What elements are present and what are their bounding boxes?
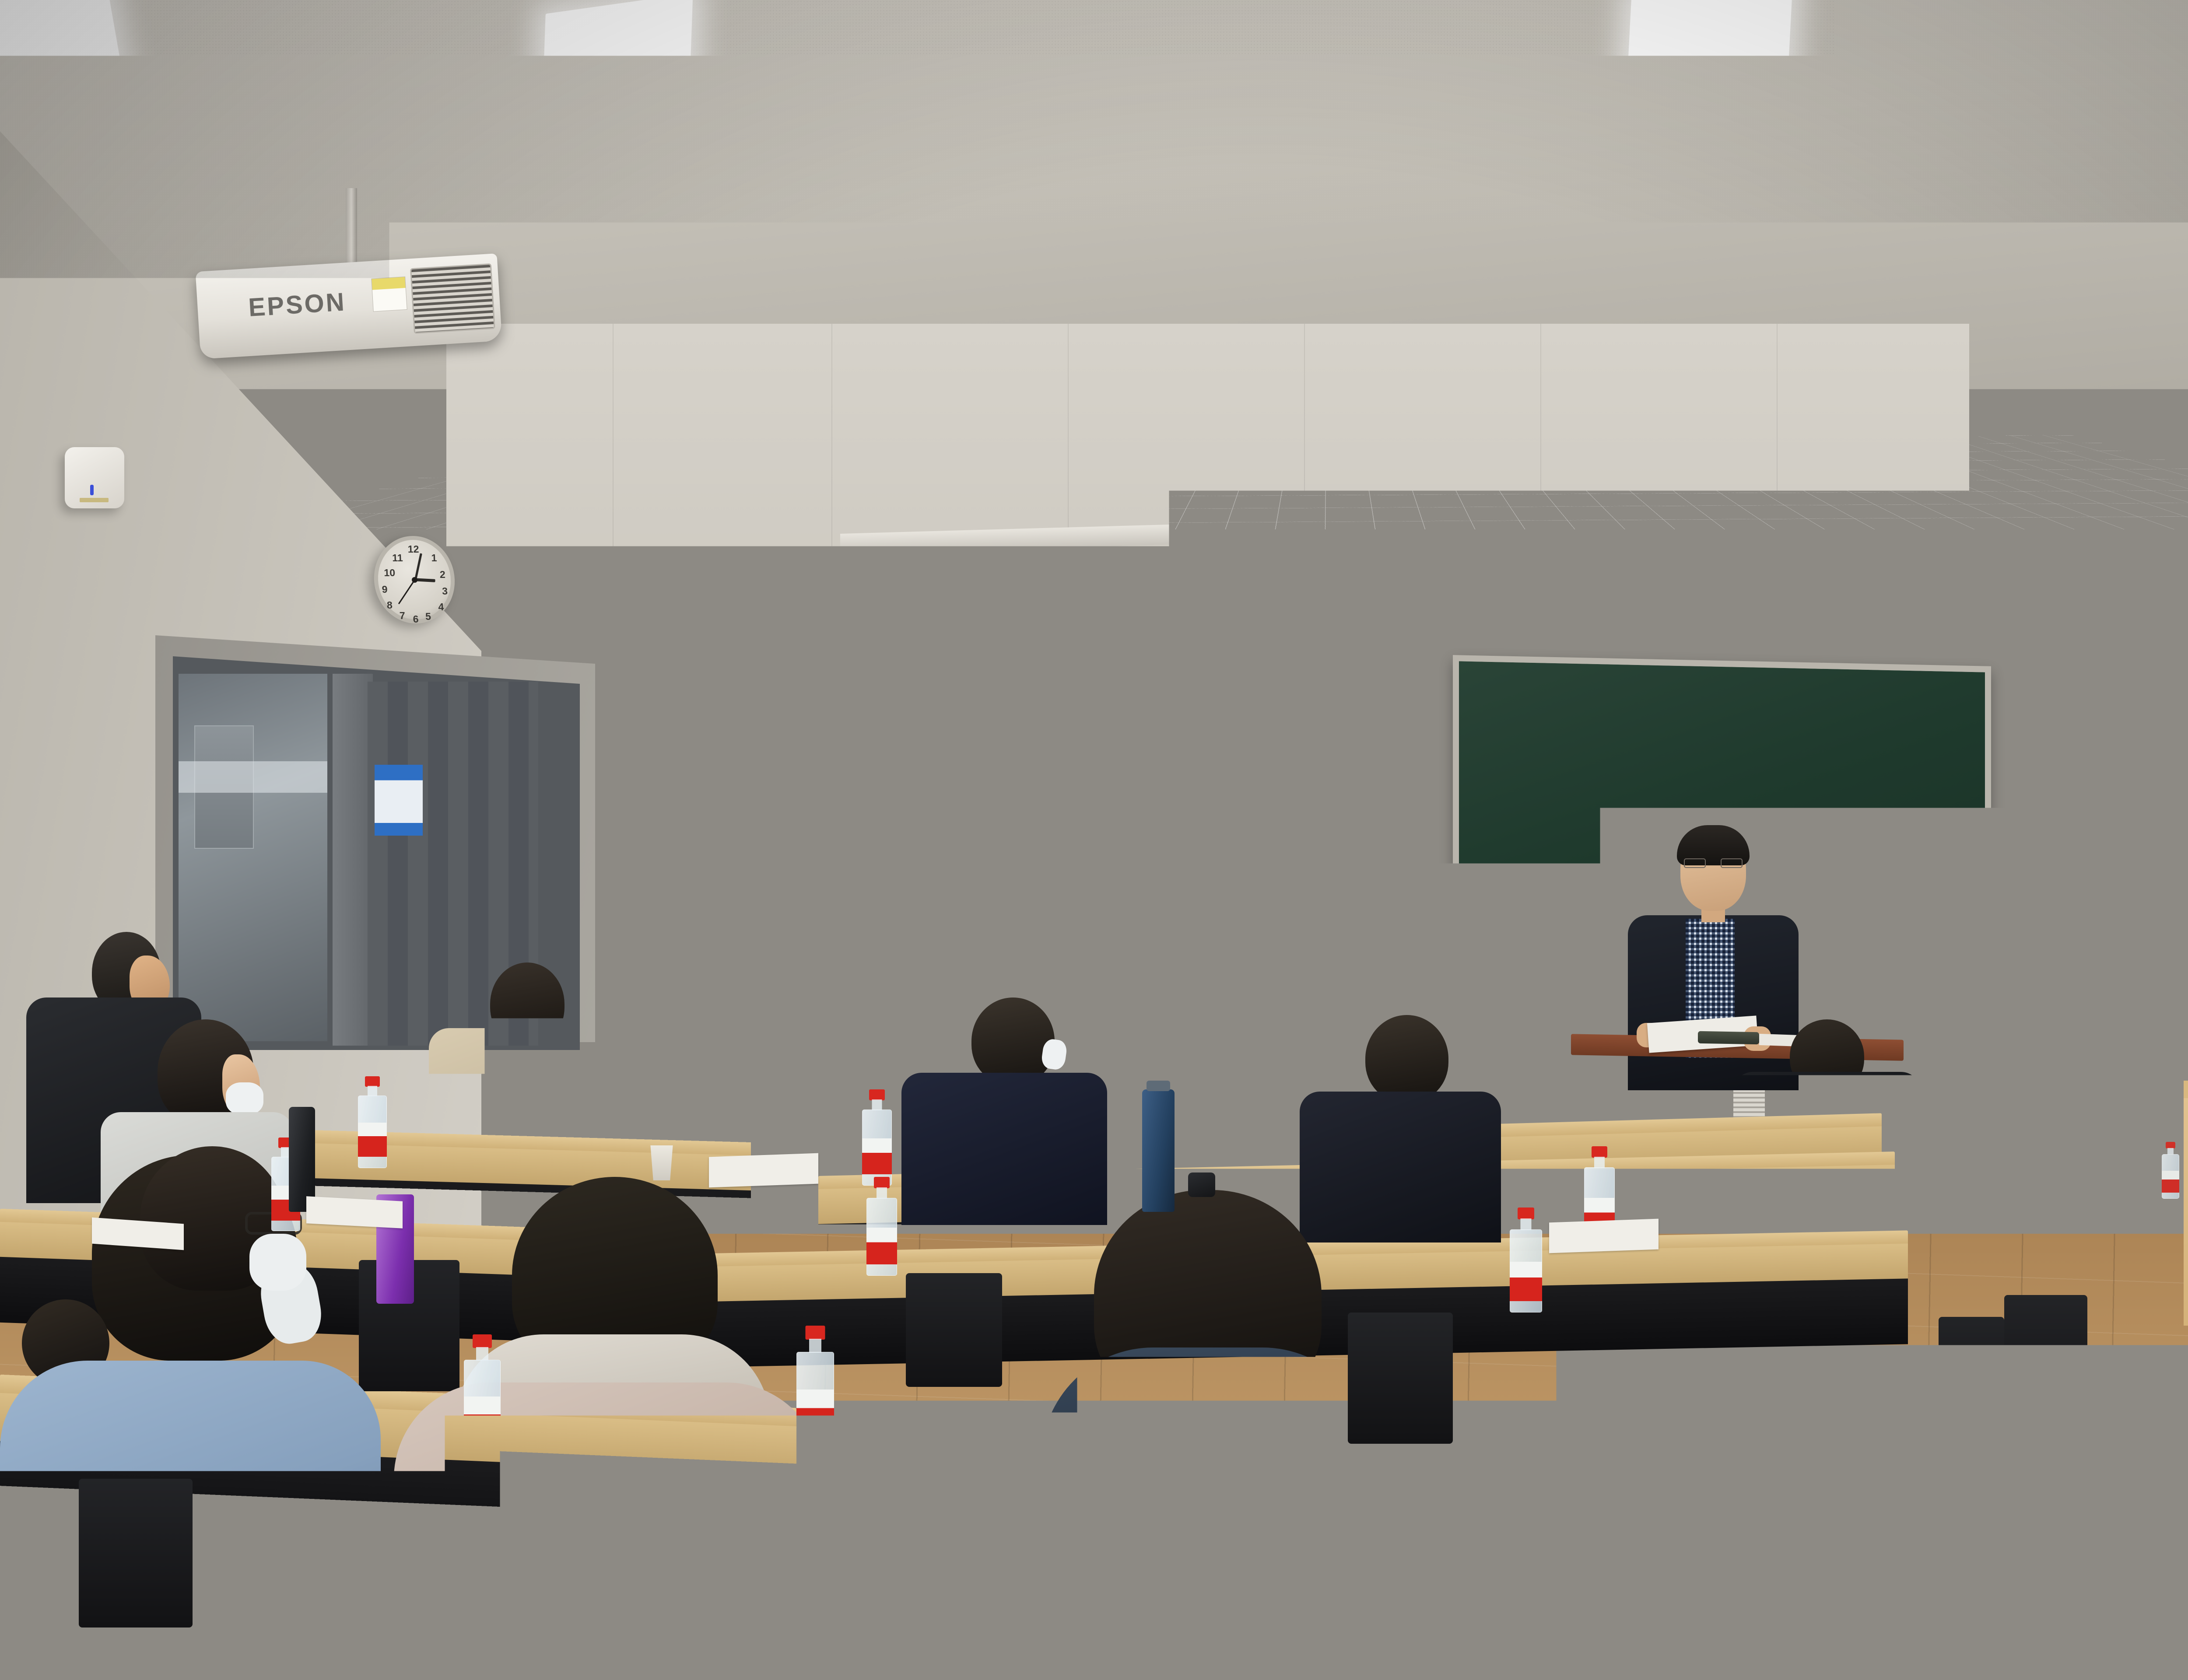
- projector-brand-label: EPSON: [248, 287, 347, 322]
- clock-date: 2021/12/15: [1388, 973, 1431, 983]
- ime-mode-label[interactable]: 中: [1375, 921, 1380, 930]
- clock-minute-hand: [414, 553, 422, 580]
- cup-lid: [1188, 1172, 1215, 1197]
- torso: [394, 1382, 823, 1680]
- projector-vent: [410, 263, 495, 334]
- hair: [971, 997, 1055, 1085]
- notebook-page: [1549, 1219, 1659, 1253]
- air-conditioner: [2118, 779, 2188, 1164]
- attendee-navy-sweater: [1641, 1199, 2105, 1680]
- tray-app-icon[interactable]: [1435, 964, 1450, 983]
- wall-right: [1960, 206, 2188, 1343]
- projection-screen-surface: 腾讯会议 正在讲话: 月下种红豆 月下种红豆: [860, 575, 1456, 1008]
- water-bottle: [2162, 1142, 2179, 1199]
- ap-label: [80, 498, 109, 502]
- wifi-router: [2135, 754, 2188, 772]
- participant-name-tag: 月下种红豆: [1312, 679, 1353, 689]
- meeting-status-bar: 腾讯会议: [1130, 603, 1187, 616]
- ime-emoji-icon[interactable]: [1392, 922, 1398, 928]
- side-counter: [2184, 1081, 2188, 1326]
- water-bottle: [1549, 1452, 1589, 1584]
- notebook-page: [1597, 1306, 1729, 1347]
- ime-tools-icon[interactable]: [1400, 922, 1406, 928]
- projection-screen-frame: 腾讯会议 正在讲话: 月下种红豆 月下种红豆: [851, 567, 1466, 1034]
- clock-time: 14:34: [1399, 966, 1420, 975]
- ime-menu-icon[interactable]: [1409, 921, 1415, 927]
- system-tray[interactable]: 14:34 2021/12/15: [1354, 964, 1456, 986]
- tray-icon[interactable]: [1354, 973, 1361, 980]
- clock-second-hand: [398, 579, 415, 604]
- participant-name-label: 月下种红豆: [1322, 679, 1353, 688]
- recording-dot-icon: [1141, 608, 1145, 612]
- camera-lens-icon: [1462, 635, 1476, 649]
- ceiling-light-panel: [541, 0, 693, 143]
- ceiling-light-panel: [1625, 0, 1793, 126]
- university-logo: ❁ 西北农林科技大学 NORTHWEST A&F UNIVERSITY: [899, 649, 1126, 701]
- ac-seam: [2121, 857, 2188, 858]
- screen-brand-label: ThreeStars: [1387, 520, 1451, 535]
- thermos-flask: [1142, 1089, 1175, 1212]
- participant-avatar-icon: [1312, 680, 1320, 688]
- signal-icon: [1185, 606, 1187, 611]
- water-bottle: [796, 1326, 834, 1449]
- participant-video-thumbnail[interactable]: 月下种红豆: [1310, 614, 1425, 691]
- face-mask: [226, 1082, 263, 1115]
- ac-display-value: 2.: [2167, 895, 2185, 913]
- signal-icon: [1130, 607, 1137, 613]
- hair: [1365, 1015, 1448, 1102]
- attendee-blue-hood-front: [910, 1190, 1488, 1680]
- camera-mount-arm: [1464, 586, 1473, 612]
- ac-seam: [2121, 1085, 2188, 1086]
- powerpoint-icon[interactable]: P: [949, 977, 971, 1001]
- door-notice-sign: [375, 765, 423, 836]
- active-speaker-indicator: 正在讲话: 月下种红豆: [1341, 594, 1422, 608]
- attendee-pink-puffer: [368, 1177, 831, 1680]
- water-bottle: [866, 1177, 897, 1276]
- start-button-icon[interactable]: [863, 978, 887, 1004]
- microphone-icon: [1341, 598, 1345, 605]
- meeting-status-label: 腾讯会议: [1148, 603, 1182, 615]
- door-jamb: [333, 674, 373, 1046]
- notebook-page: [306, 1196, 403, 1228]
- taskbar-clock[interactable]: 14:34 2021/12/15: [1388, 966, 1431, 984]
- ime-keyboard-icon[interactable]: [1383, 922, 1389, 928]
- water-bottle: [464, 1334, 501, 1454]
- tray-network-icon[interactable]: [1377, 972, 1384, 979]
- collar: [1807, 1404, 1956, 1461]
- notebook-page: [1847, 1118, 1947, 1151]
- torso: [910, 1417, 1483, 1680]
- tray-volume-icon[interactable]: [1365, 973, 1372, 980]
- notebook-page: [709, 1153, 818, 1188]
- active-speaker-label: 正在讲话: 月下种红豆: [1348, 594, 1422, 607]
- projector-asset-sticker: [371, 276, 407, 312]
- face-mask: [249, 1234, 306, 1291]
- wifi-access-point: [65, 447, 124, 508]
- university-name-cn: 西北农林科技大学: [933, 649, 1126, 688]
- clock-hour-hand: [416, 578, 435, 582]
- classroom-photo: EPSON 12 1 2 3 4 5 6 7 8 9 10 11 Three: [0, 0, 2188, 1680]
- sogou-logo-icon: S: [1367, 921, 1372, 930]
- ceiling-projector: EPSON: [196, 253, 502, 359]
- status-led: [90, 485, 94, 495]
- water-bottle: [862, 1089, 892, 1186]
- security-camera-band: [1443, 618, 1490, 624]
- eyeglasses-icon: [1684, 858, 1743, 868]
- app-icon[interactable]: [977, 976, 999, 1000]
- attendee-black-hood-right: [1724, 1019, 1930, 1212]
- water-bottle: [358, 1076, 387, 1168]
- cardboard-box: [630, 1046, 722, 1107]
- ime-toolbar[interactable]: S 中: [1364, 919, 1419, 932]
- water-bottle: [1510, 1207, 1542, 1312]
- university-seal-icon: ❁: [899, 664, 926, 692]
- hair: [1768, 1199, 1974, 1426]
